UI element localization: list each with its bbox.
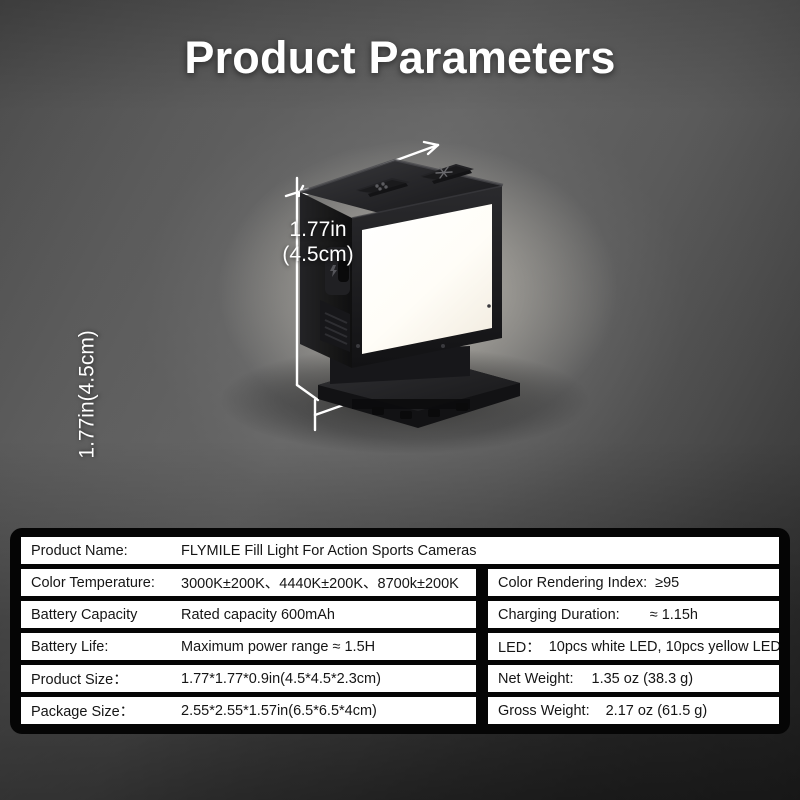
spec-value: ≈ 1.15h bbox=[650, 607, 698, 623]
mini-led-fill-light-body bbox=[300, 160, 520, 428]
spec-value: 1.35 oz (38.3 g) bbox=[592, 671, 694, 687]
table-row: Product Name: FLYMILE Fill Light For Act… bbox=[21, 537, 779, 564]
table-row: Color Temperature: 3000K±200K、4440K±200K… bbox=[21, 569, 779, 596]
spec-table: Product Name: FLYMILE Fill Light For Act… bbox=[10, 528, 790, 734]
spec-value: 2.55*2.55*1.57in(6.5*6.5*4cm) bbox=[181, 703, 377, 719]
spec-key: LED： bbox=[498, 636, 541, 657]
spec-key: Battery Capacity bbox=[31, 607, 181, 623]
spec-cell-product-name: Product Name: FLYMILE Fill Light For Act… bbox=[21, 537, 779, 564]
spec-value: 1.77*1.77*0.9in(4.5*4.5*2.3cm) bbox=[181, 671, 381, 687]
spec-value: ≥95 bbox=[655, 575, 679, 591]
table-row: Battery Life: Maximum power range ≈ 1.5H… bbox=[21, 633, 779, 660]
table-row: Battery Capacity Rated capacity 600mAh C… bbox=[21, 601, 779, 628]
spec-key: Gross Weight: bbox=[498, 703, 590, 719]
spec-cell-product-size: Product Size： 1.77*1.77*0.9in(4.5*4.5*2.… bbox=[21, 665, 476, 692]
page-title: Product Parameters bbox=[0, 32, 800, 84]
spec-cell-led: LED： 10pcs white LED, 10pcs yellow LED bbox=[488, 633, 779, 660]
spec-cell-battery-capacity: Battery Capacity Rated capacity 600mAh bbox=[21, 601, 476, 628]
spec-key: Net Weight: bbox=[498, 671, 574, 687]
spec-value: Rated capacity 600mAh bbox=[181, 607, 335, 623]
spec-key: Product Name: bbox=[31, 543, 181, 559]
table-row: Product Size： 1.77*1.77*0.9in(4.5*4.5*2.… bbox=[21, 665, 779, 692]
spec-key: Color Rendering Index: bbox=[498, 575, 647, 591]
spec-value: FLYMILE Fill Light For Action Sports Cam… bbox=[181, 543, 476, 559]
spec-value: 2.17 oz (61.5 g) bbox=[606, 703, 708, 719]
spec-cell-gross-weight: Gross Weight: 2.17 oz (61.5 g) bbox=[488, 697, 779, 724]
table-row: Package Size： 2.55*2.55*1.57in(6.5*6.5*4… bbox=[21, 697, 779, 724]
spec-key: Color Temperature: bbox=[31, 575, 181, 591]
infographic-canvas: Product Parameters bbox=[0, 0, 800, 800]
dimension-width-label: 1.77in (4.5cm) bbox=[248, 218, 388, 268]
spec-key: Battery Life: bbox=[31, 639, 181, 655]
spec-cell-net-weight: Net Weight: 1.35 oz (38.3 g) bbox=[488, 665, 779, 692]
spec-value: Maximum power range ≈ 1.5H bbox=[181, 639, 375, 655]
product-photo: 1.77in (4.5cm) 1.77in(4.5cm) 0.9in (2.3c… bbox=[0, 100, 800, 510]
spec-key: Charging Duration: bbox=[498, 607, 620, 623]
spec-cell-color-rendering-index: Color Rendering Index: ≥95 bbox=[488, 569, 779, 596]
spec-cell-package-size: Package Size： 2.55*2.55*1.57in(6.5*6.5*4… bbox=[21, 697, 476, 724]
dimension-height-label: 1.77in(4.5cm) bbox=[76, 299, 101, 489]
spec-cell-battery-life: Battery Life: Maximum power range ≈ 1.5H bbox=[21, 633, 476, 660]
spec-cell-color-temperature: Color Temperature: 3000K±200K、4440K±200K… bbox=[21, 569, 476, 596]
spec-value: 10pcs white LED, 10pcs yellow LED bbox=[549, 639, 779, 655]
spec-value: 3000K±200K、4440K±200K、8700k±200K bbox=[181, 572, 459, 593]
spec-key: Package Size： bbox=[31, 700, 181, 721]
spec-key: Product Size： bbox=[31, 668, 181, 689]
spec-cell-charging-duration: Charging Duration: ≈ 1.15h bbox=[488, 601, 779, 628]
